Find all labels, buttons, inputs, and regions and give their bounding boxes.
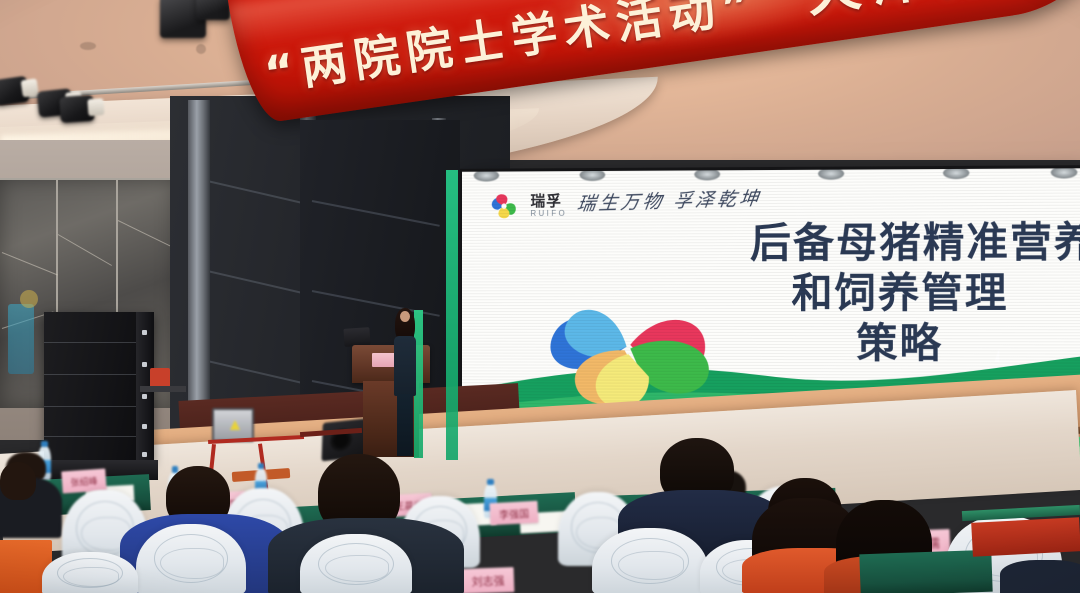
speaker-indicator [142, 394, 147, 399]
sailboat-icon [994, 348, 1004, 364]
screen-bezel-reflection [474, 170, 499, 182]
audience-chair [42, 552, 138, 593]
slide-title-line2: 和饲养管理 [684, 267, 1080, 318]
bottle-cap [41, 441, 47, 448]
presenter-legs [397, 394, 413, 456]
conference-photo-scene: “两院院士学术活动” 天津养猪高 [0, 0, 1080, 593]
pa-speaker-stack [44, 312, 154, 462]
glass-reflection [2, 252, 58, 275]
speaker-indicator [142, 424, 147, 429]
brand-name-cn: 瑞孚 [530, 194, 567, 210]
speaker-indicator [142, 452, 147, 457]
glass-reflection [58, 234, 112, 266]
speaker-indicator [142, 330, 147, 335]
bottle-cap [258, 463, 264, 469]
glass-reflection [118, 220, 171, 246]
table-namecard: 李强国 [489, 501, 538, 525]
ceiling-sprinkler [80, 42, 96, 50]
slide-calligraphy-tagline: 瑞生万物 孚泽乾坤 [576, 184, 764, 217]
equipment-shelf [140, 386, 186, 392]
slide-brand-text: 瑞孚 RUIFO [530, 194, 567, 219]
table-runner [971, 517, 1080, 557]
audience-chair [300, 534, 412, 593]
screen-side-led-strip [446, 170, 458, 460]
audience-head [0, 462, 36, 500]
brand-name-en: RUIFO [530, 209, 567, 218]
audience-chair [136, 524, 246, 593]
slide-title: 后备母猪精准营养 和饲养管理 策略 [684, 217, 1080, 369]
audience-torso [1000, 560, 1080, 593]
bottle-cap [487, 479, 493, 486]
light-reflection [20, 290, 38, 308]
table-namecard: 刘志强 [462, 567, 515, 593]
stage-spotlight-icon [0, 76, 30, 106]
screen-bezel-reflection [580, 169, 606, 181]
presenter-face [400, 311, 410, 322]
presenter-laptop [343, 327, 370, 347]
red-equipment-box [150, 368, 170, 388]
speaker-indicator [142, 362, 147, 367]
presenter-torso [394, 336, 416, 396]
mullion [0, 178, 176, 180]
ruifo-logo-icon [489, 191, 518, 221]
screen-bezel-reflection [694, 168, 720, 180]
stage-spotlight-icon [59, 95, 95, 123]
slide-title-line1: 后备母猪精准营养 [684, 217, 1080, 269]
ceiling-spotlight-icon [196, 0, 230, 20]
hazard-label-icon [230, 420, 240, 430]
slide-brand-lockup: 瑞孚 RUIFO [489, 191, 567, 221]
slide-title-line3: 策略 [684, 318, 1080, 369]
presenter [392, 306, 418, 456]
ceiling-sprinkler [196, 44, 206, 54]
audience-chair [592, 528, 708, 593]
window-reflection [8, 304, 34, 374]
